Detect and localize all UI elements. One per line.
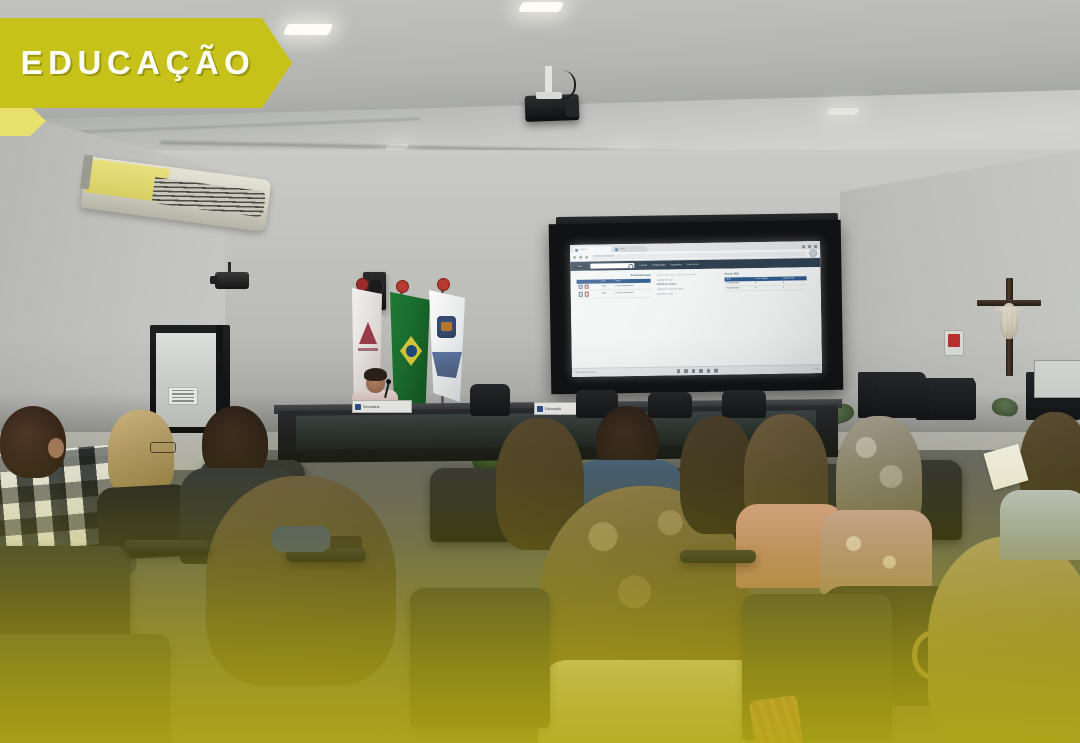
banner-label: EDUCAÇÃO bbox=[0, 18, 262, 108]
chair-front-4 bbox=[0, 634, 170, 743]
seat-cushion bbox=[272, 526, 330, 552]
handbag bbox=[749, 695, 803, 743]
person-body bbox=[820, 510, 932, 594]
person-body bbox=[538, 660, 768, 743]
chair-front-2 bbox=[410, 588, 550, 728]
person-body bbox=[1000, 490, 1080, 560]
person-ear bbox=[48, 438, 64, 458]
person-hair bbox=[108, 410, 174, 496]
chair-armrest-1 bbox=[124, 540, 210, 554]
person-hair bbox=[206, 476, 396, 686]
glasses-icon bbox=[150, 442, 176, 453]
person-hair bbox=[928, 536, 1080, 743]
screenshot-root: Sistema Portal bbox=[0, 0, 1080, 743]
audience bbox=[0, 398, 1080, 743]
chair-armrest-3 bbox=[680, 550, 756, 563]
